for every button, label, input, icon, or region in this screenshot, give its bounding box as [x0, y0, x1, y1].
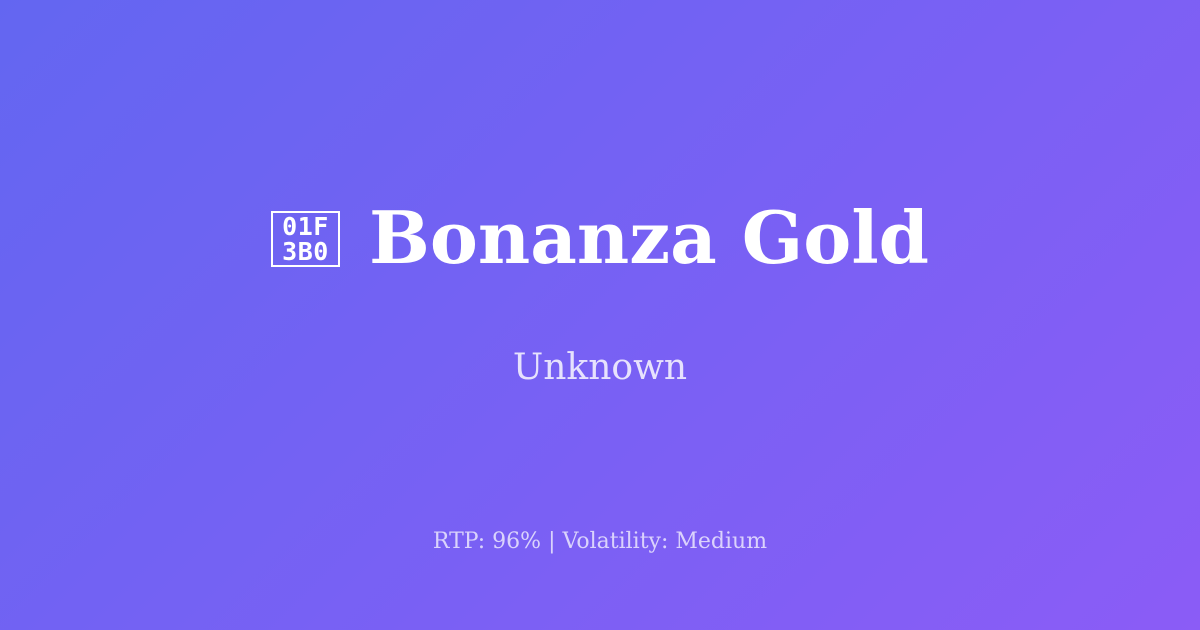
- slot-machine-icon: 01F 3B0: [271, 211, 340, 267]
- game-meta-line: RTP: 96% | Volatility: Medium: [0, 529, 1200, 555]
- tofu-codepoint-top: 01F: [282, 214, 329, 239]
- tofu-codepoint-bottom: 3B0: [282, 239, 329, 264]
- og-share-card: 01F 3B0 Bonanza Gold Unknown RTP: 96% | …: [0, 0, 1200, 630]
- title-row: 01F 3B0 Bonanza Gold: [271, 202, 929, 274]
- page-title: Bonanza Gold: [369, 202, 929, 274]
- game-provider-subtitle: Unknown: [513, 346, 687, 389]
